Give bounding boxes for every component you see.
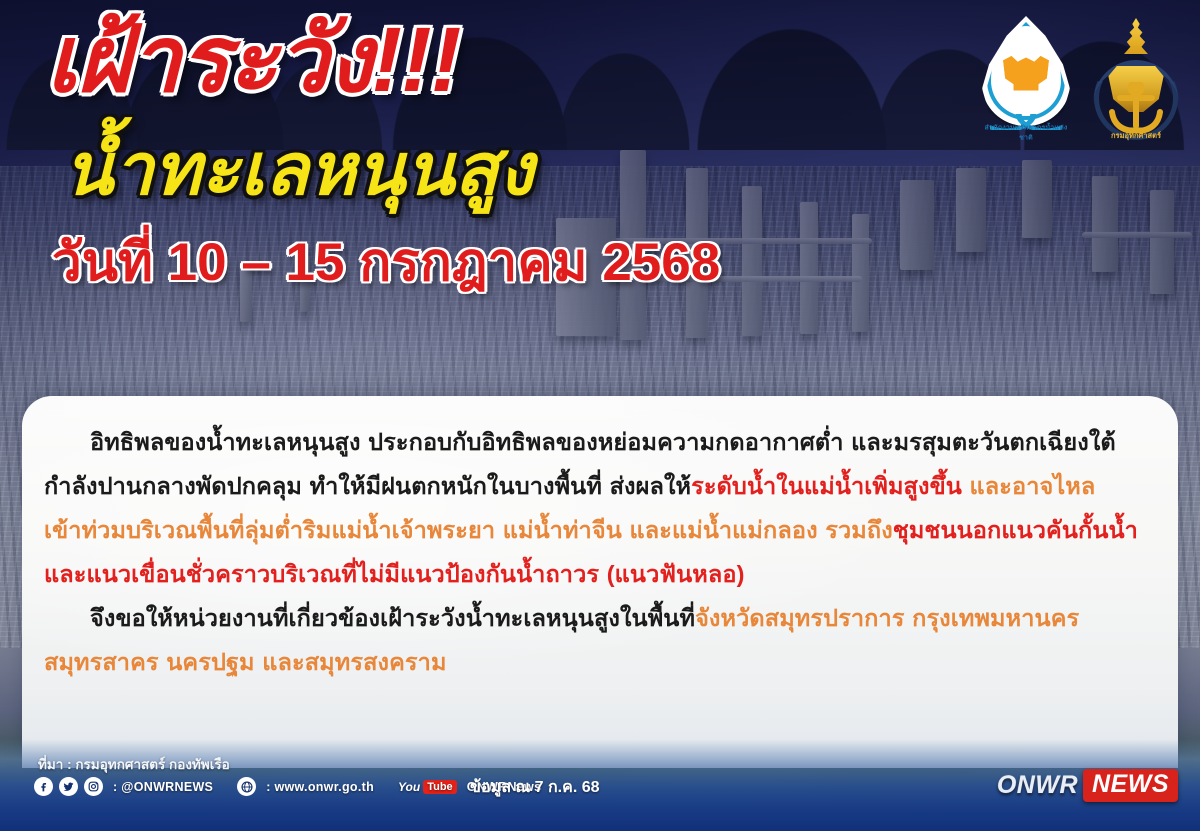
agency-logos: สำนักงานทรัพยากรน้ำแห่งชาติ กรมอุทกศาสตร… [978, 16, 1182, 146]
data-as-of-date: ข้อมูล ณ 7 ก.ค. 68 [470, 775, 600, 800]
highlight-temporary-embankment: และแนวเขื่อนชั่วคราวบริเวณที่ไม่มีแนวป้อ… [44, 561, 745, 587]
social-handle: : @ONWRNEWS [113, 780, 213, 794]
social-links-row: : @ONWRNEWS : www.onwr.go.th You Tube ON… [34, 777, 541, 796]
body-text-line-2c: และอาจไหล [962, 473, 1096, 499]
twitter-icon[interactable] [59, 777, 78, 796]
onwr-water-drop-logo: สำนักงานทรัพยากรน้ำแห่งชาติ [978, 16, 1074, 146]
globe-icon[interactable] [237, 777, 256, 796]
highlight-provinces-2: สมุทรสาคร นครปฐม และสมุทรสงคราม [44, 649, 447, 675]
body-line-4: และแนวเขื่อนชั่วคราวบริเวณที่ไม่มีแนวป้อ… [44, 552, 1156, 596]
website-url[interactable]: : www.onwr.go.th [266, 780, 374, 794]
body-text-line-5a: จึงขอให้หน่วยงานที่เกี่ยวข้องเฝ้าระวังน้… [90, 605, 695, 631]
poster-footer: ที่มา : กรมอุทกศาสตร์ กองทัพเรือ [0, 739, 1200, 831]
hydrographic-department-navy-logo: กรมอุทกศาสตร์ [1090, 16, 1182, 146]
navy-logo-caption: กรมอุทกศาสตร์ [1090, 130, 1182, 142]
announcement-body: อิทธิพลของน้ำทะเลหนุนสูง ประกอบกับอิทธิพ… [44, 420, 1156, 684]
announcement-card: อิทธิพลของน้ำทะเลหนุนสูง ประกอบกับอิทธิพ… [22, 396, 1178, 768]
body-line-3: เข้าท่วมบริเวณพื้นที่ลุ่มต่ำริมแม่น้ำเจ้… [44, 508, 1156, 552]
highlight-communities-outside-levee: ชุมชนนอกแนวคันกั้นน้ำ [893, 517, 1138, 543]
brand-onwr-text: ONWR [997, 771, 1078, 800]
highlight-river-basins: เข้าท่วมบริเวณพื้นที่ลุ่มต่ำริมแม่น้ำเจ้… [44, 517, 893, 543]
body-text-line-1: อิทธิพลของน้ำทะเลหนุนสูง ประกอบกับอิทธิพ… [90, 429, 1116, 455]
body-line-2: กำลังปานกลางพัดปกคลุม ทำให้มีฝนตกหนักในบ… [44, 464, 1156, 508]
onwr-logo-caption: สำนักงานทรัพยากรน้ำแห่งชาติ [978, 123, 1074, 143]
brand-news-badge: NEWS [1083, 769, 1178, 802]
onwr-news-brand-logo: ONWR NEWS [997, 769, 1178, 802]
body-line-6: สมุทรสาคร นครปฐม และสมุทรสงคราม [44, 640, 1156, 684]
body-line-5: จึงขอให้หน่วยงานที่เกี่ยวข้องเฝ้าระวังน้… [44, 596, 1156, 640]
headline-high-tide: น้ำทะเลหนุนสูง [64, 134, 720, 206]
highlight-rising-river-level: ระดับน้ำในแม่น้ำเพิ่มสูงขึ้น [691, 473, 962, 499]
headline-watch-out: เฝ้าระวัง!!! [46, 14, 720, 106]
youtube-tube-badge: Tube [423, 780, 456, 794]
highlight-provinces-1: จังหวัดสมุทรปราการ กรุงเทพมหานคร [695, 605, 1079, 631]
headline-date-range: วันที่ 10 – 15 กรกฎาคม 2568 [52, 236, 720, 289]
body-text-line-2a: กำลังปานกลางพัดปกคลุม ทำให้มีฝนตกหนักในบ… [44, 473, 691, 499]
instagram-icon[interactable] [84, 777, 103, 796]
flood-warning-poster: เฝ้าระวัง!!! น้ำทะเลหนุนสูง วันที่ 10 – … [0, 0, 1200, 831]
source-attribution: ที่มา : กรมอุทกศาสตร์ กองทัพเรือ [38, 753, 230, 775]
headline-block: เฝ้าระวัง!!! น้ำทะเลหนุนสูง วันที่ 10 – … [46, 14, 720, 289]
youtube-icon[interactable]: You Tube [398, 780, 457, 794]
youtube-you-text: You [398, 780, 420, 794]
navy-anchor-icon [1104, 82, 1168, 134]
facebook-icon[interactable] [34, 777, 53, 796]
body-line-1: อิทธิพลของน้ำทะเลหนุนสูง ประกอบกับอิทธิพ… [44, 420, 1156, 464]
